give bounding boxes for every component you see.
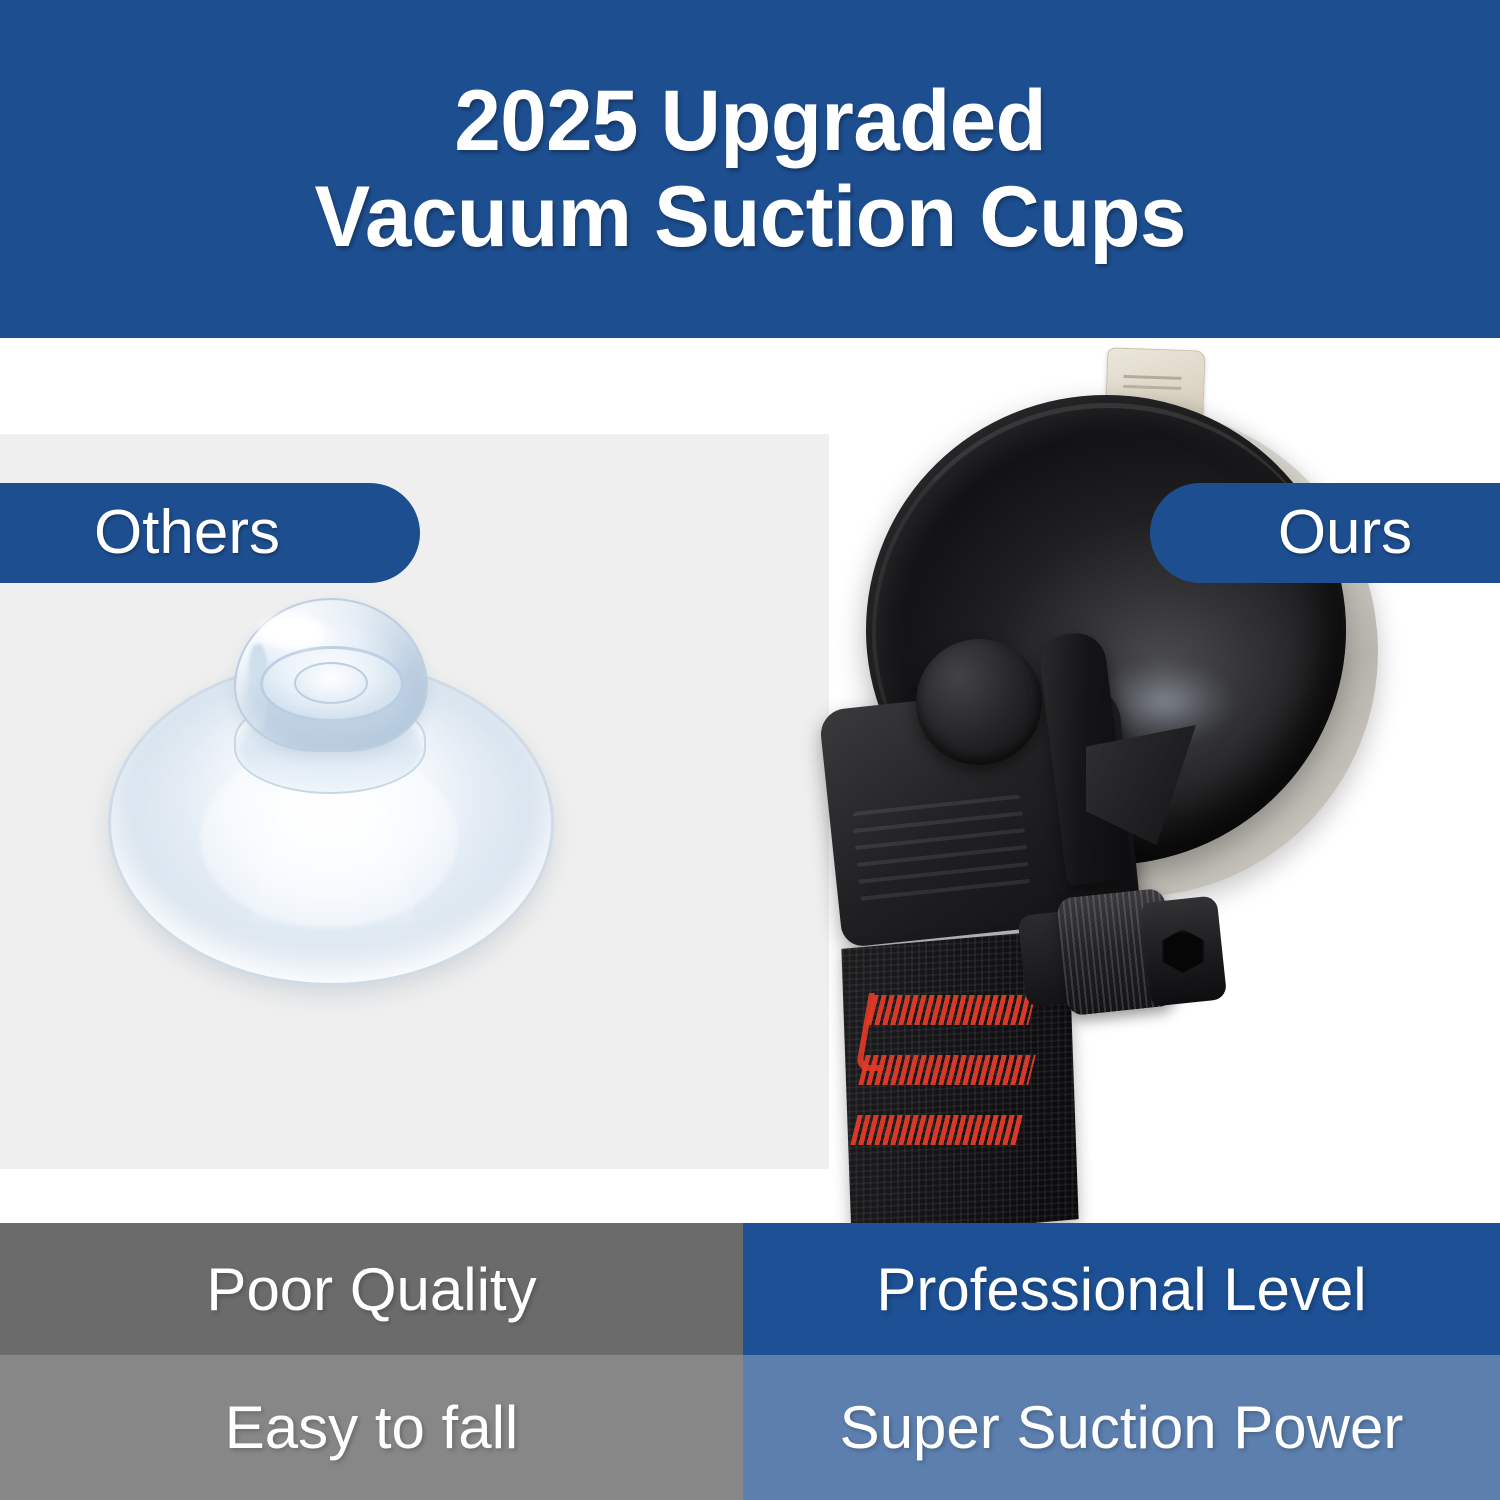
strap-stitch-row <box>866 995 1035 1025</box>
caption-others-performance: Easy to fall <box>0 1355 743 1500</box>
header-banner: 2025 Upgraded Vacuum Suction Cups <box>0 0 1500 338</box>
page-title: 2025 Upgraded Vacuum Suction Cups <box>285 73 1215 266</box>
pivot-knob <box>916 639 1042 765</box>
strap-stitch-row <box>850 1115 1025 1145</box>
base-grip-ridges <box>852 794 1031 903</box>
caption-row: Poor Quality Professional Level <box>0 1223 1500 1355</box>
clear-suction-cup-image <box>108 598 548 998</box>
caption-row: Easy to fall Super Suction Power <box>0 1355 1500 1500</box>
strap-stitch-row <box>858 1055 1035 1085</box>
black-suction-mount-image <box>810 333 1500 1223</box>
comparison-stage: Others Ours <box>0 338 1500 1223</box>
caption-others-quality: Poor Quality <box>0 1223 743 1355</box>
caption-bars: Poor Quality Professional Level Easy to … <box>0 1223 1500 1500</box>
suction-cup-knob-hole <box>294 662 368 704</box>
badge-others: Others <box>0 483 420 583</box>
badge-ours: Ours <box>1150 483 1500 583</box>
caption-ours-quality: Professional Level <box>743 1223 1500 1355</box>
suction-cup-highlight <box>258 614 324 648</box>
caption-ours-performance: Super Suction Power <box>743 1355 1500 1500</box>
others-panel-notch <box>0 1169 743 1223</box>
